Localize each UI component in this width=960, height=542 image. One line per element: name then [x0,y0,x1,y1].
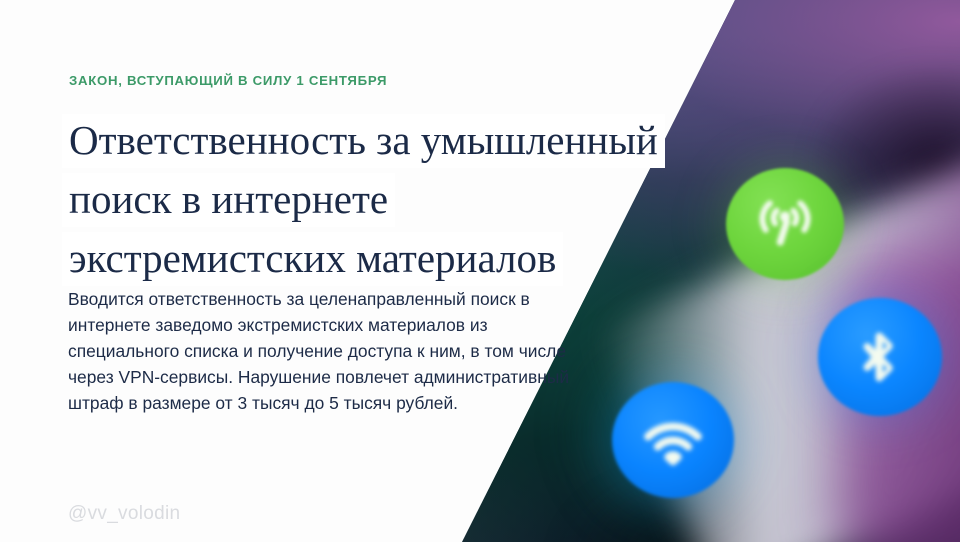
wifi-icon [612,382,734,498]
wifi-glyph [642,409,704,471]
body-copy: Вводится ответственность за целенаправле… [68,286,588,417]
text-content: ЗАКОН, ВСТУПАЮЩИЙ В СИЛУ 1 СЕНТЯБРЯ Отве… [0,0,620,542]
headline-line-1-text: Ответственность за умышленный [62,114,665,168]
author-handle-watermark: @vv_volodin [68,503,180,525]
headline-line-2-text: поиск в интернете [62,173,395,227]
headline-line-1: Ответственность за умышленный [62,114,822,168]
bluetooth-icon [818,298,942,416]
kicker-label: ЗАКОН, ВСТУПАЮЩИЙ В СИЛУ 1 СЕНТЯБРЯ [69,73,387,88]
bluetooth-glyph [852,329,908,385]
headline-line-2: поиск в интернете [62,173,822,227]
body-paragraph: Вводится ответственность за целенаправле… [68,286,588,417]
headline-line-3: экстремистских материалов [62,232,822,286]
headline-line-3-text: экстремистских материалов [62,232,563,286]
page-title: Ответственность за умышленный поиск в ин… [62,114,822,291]
infographic-card: ЗАКОН, ВСТУПАЮЩИЙ В СИЛУ 1 СЕНТЯБРЯ Отве… [0,0,960,542]
